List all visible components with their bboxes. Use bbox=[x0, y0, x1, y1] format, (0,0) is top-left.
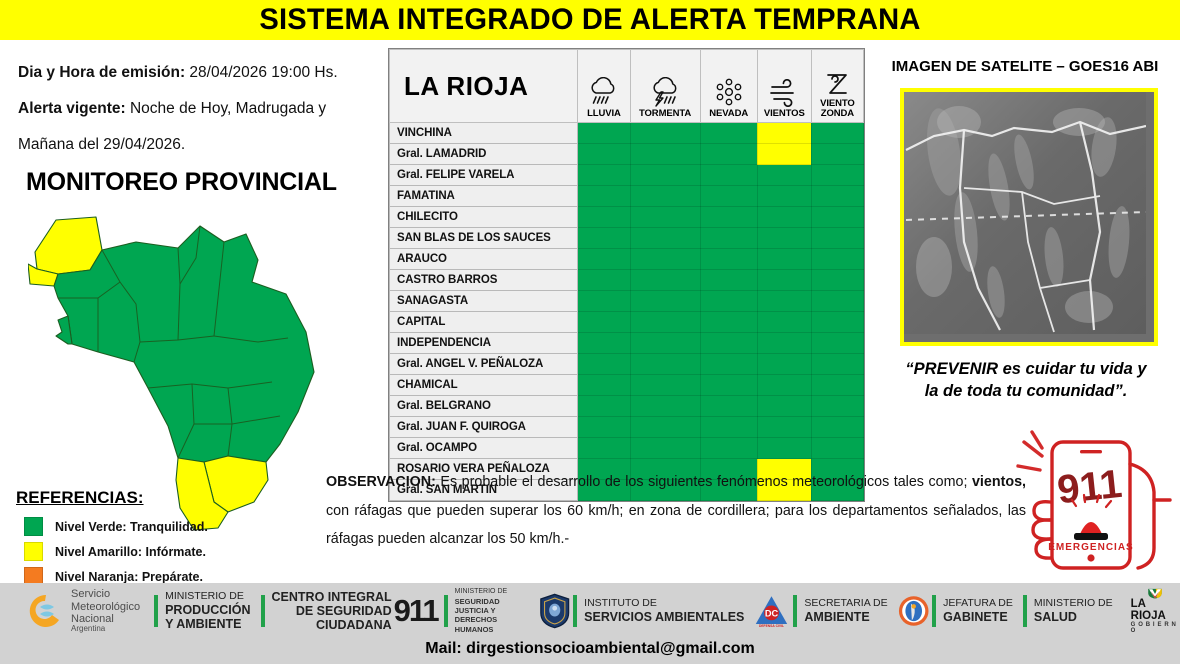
status-cell-nevada bbox=[700, 207, 757, 228]
status-cell-vientos bbox=[757, 396, 811, 417]
status-cell-viento-zonda bbox=[811, 228, 863, 249]
status-cell-nevada bbox=[700, 396, 757, 417]
status-cell-viento-zonda bbox=[811, 333, 863, 354]
status-cell-lluvia bbox=[578, 270, 630, 291]
status-cell-nevada bbox=[700, 354, 757, 375]
department-name: CAPITAL bbox=[390, 312, 578, 333]
status-cell-viento-zonda bbox=[811, 270, 863, 291]
column-header-viento-zonda: VIENTO ZONDA bbox=[811, 50, 863, 123]
status-cell-lluvia bbox=[578, 417, 630, 438]
reference-item: Nivel Amarillo: Infórmate. bbox=[16, 539, 336, 564]
ms-main: SALUD bbox=[1034, 610, 1113, 624]
status-cell-nevada bbox=[700, 291, 757, 312]
msj-t2: SEGURIDAD bbox=[455, 597, 532, 606]
logo-ministerio-salud: MINISTERIO DE SALUD bbox=[1034, 588, 1113, 634]
status-cell-nevada bbox=[700, 165, 757, 186]
department-name: Gral. LAMADRID bbox=[390, 144, 578, 165]
status-cell-vientos bbox=[757, 123, 811, 144]
status-cell-tormenta bbox=[630, 165, 700, 186]
observation-text: OBSERVACION: Es probable el desarrollo d… bbox=[326, 468, 1026, 554]
status-cell-nevada bbox=[700, 123, 757, 144]
wind-icon bbox=[767, 79, 801, 107]
divider bbox=[1023, 595, 1027, 627]
status-cell-viento-zonda bbox=[811, 144, 863, 165]
status-cell-vientos bbox=[757, 354, 811, 375]
status-cell-viento-zonda bbox=[811, 186, 863, 207]
table-row: CHILECITO bbox=[390, 207, 864, 228]
status-cell-tormenta bbox=[630, 312, 700, 333]
status-cell-nevada bbox=[700, 438, 757, 459]
status-cell-lluvia bbox=[578, 375, 630, 396]
smn-l1: Servicio bbox=[71, 588, 140, 600]
isa-top: INSTITUTO DE bbox=[584, 598, 744, 610]
emergency-911-logo: 911 EMERGENCIAS bbox=[1010, 430, 1175, 580]
status-cell-tormenta bbox=[630, 249, 700, 270]
policia-shield-icon bbox=[539, 591, 570, 631]
status-cell-lluvia bbox=[578, 165, 630, 186]
msj-t1: MINISTERIO DE bbox=[455, 588, 532, 597]
department-name: ARAUCO bbox=[390, 249, 578, 270]
smn-l3: Nacional bbox=[71, 613, 140, 625]
defensa-civil-icon: DC DEFENSA CIVIL bbox=[753, 591, 790, 631]
department-name: VINCHINA bbox=[390, 123, 578, 144]
divider bbox=[261, 595, 265, 627]
reference-label: Nivel Amarillo: Infórmate. bbox=[55, 545, 206, 559]
smn-icon bbox=[26, 592, 66, 630]
mpa-main1: PRODUCCIÓN bbox=[165, 603, 250, 617]
contact-mail: Mail: dirgestionsocioambiental@gmail.com bbox=[0, 640, 1180, 658]
status-cell-lluvia bbox=[578, 207, 630, 228]
status-cell-nevada bbox=[700, 228, 757, 249]
table-row: Gral. BELGRANO bbox=[390, 396, 864, 417]
department-name: SAN BLAS DE LOS SAUCES bbox=[390, 228, 578, 249]
status-cell-nevada bbox=[700, 270, 757, 291]
status-cell-tormenta bbox=[630, 396, 700, 417]
swatch-yellow-icon bbox=[24, 542, 43, 561]
status-cell-tormenta bbox=[630, 417, 700, 438]
status-cell-vientos bbox=[757, 417, 811, 438]
cisc-l3: CIUDADANA bbox=[272, 618, 392, 632]
table-row: INDEPENDENCIA bbox=[390, 333, 864, 354]
status-cell-vientos bbox=[757, 228, 811, 249]
emission-line: Dia y Hora de emisión: 28/04/2026 19:00 … bbox=[18, 64, 378, 83]
status-cell-tormenta bbox=[630, 291, 700, 312]
table-row: CAPITAL bbox=[390, 312, 864, 333]
status-cell-viento-zonda bbox=[811, 291, 863, 312]
alert-table-body: VINCHINAGral. LAMADRIDGral. FELIPE VAREL… bbox=[390, 123, 864, 501]
observation-part1: Es probable el desarrollo de los siguien… bbox=[436, 474, 972, 490]
smn-l2: Meteorológico bbox=[71, 601, 140, 613]
satellite-image-content bbox=[904, 92, 1146, 334]
status-cell-vientos bbox=[757, 312, 811, 333]
department-name: Gral. OCAMPO bbox=[390, 438, 578, 459]
department-name: FAMATINA bbox=[390, 186, 578, 207]
table-row: CASTRO BARROS bbox=[390, 270, 864, 291]
divider bbox=[154, 595, 158, 627]
alert-table-container: LA RIOJA LLUVIA bbox=[388, 48, 865, 502]
status-cell-tormenta bbox=[630, 186, 700, 207]
reference-item: Nivel Verde: Tranquilidad. bbox=[16, 514, 336, 539]
department-name: INDEPENDENCIA bbox=[390, 333, 578, 354]
logo-ministerio-seguridad-justicia: MINISTERIO DE SEGURIDAD JUSTICIA Y DEREC… bbox=[455, 588, 532, 634]
reference-label: Nivel Verde: Tranquilidad. bbox=[55, 520, 208, 534]
table-row: Gral. LAMADRID bbox=[390, 144, 864, 165]
mpa-main2: Y AMBIENTE bbox=[165, 617, 250, 631]
column-label: VIENTOS bbox=[758, 109, 811, 122]
divider bbox=[793, 595, 797, 627]
status-cell-vientos bbox=[757, 186, 811, 207]
logo-ministerio-produccion-ambiente: MINISTERIO DE PRODUCCIÓN Y AMBIENTE bbox=[165, 588, 250, 634]
dc-initials: DC bbox=[765, 609, 779, 619]
status-cell-nevada bbox=[700, 312, 757, 333]
table-row: SANAGASTA bbox=[390, 291, 864, 312]
status-cell-tormenta bbox=[630, 354, 700, 375]
quote-line1: “PREVENIR es cuidar tu vida y bbox=[880, 358, 1172, 380]
status-cell-viento-zonda bbox=[811, 165, 863, 186]
table-row: CHAMICAL bbox=[390, 375, 864, 396]
status-cell-viento-zonda bbox=[811, 354, 863, 375]
emergency-label: EMERGENCIAS bbox=[1048, 542, 1133, 553]
cisc-l2: DE SEGURIDAD bbox=[272, 604, 392, 618]
sa-top: SECRETARIA DE bbox=[804, 598, 887, 610]
department-name: Gral. ANGEL V. PEÑALOZA bbox=[390, 354, 578, 375]
status-cell-nevada bbox=[700, 249, 757, 270]
logo-servicio-meteorologico-nacional: Servicio Meteorológico Nacional Argentin… bbox=[26, 588, 140, 634]
status-cell-lluvia bbox=[578, 291, 630, 312]
column-label: LLUVIA bbox=[578, 109, 629, 122]
emission-value: 28/04/2026 19:00 Hs. bbox=[185, 64, 338, 81]
status-cell-vientos bbox=[757, 333, 811, 354]
status-cell-lluvia bbox=[578, 438, 630, 459]
divider bbox=[932, 595, 936, 627]
column-header-vientos: VIENTOS bbox=[757, 50, 811, 123]
logo-secretaria-ambiente: SECRETARIA DE AMBIENTE bbox=[804, 588, 887, 634]
thunderstorm-icon bbox=[646, 77, 684, 107]
table-row: Gral. JUAN F. QUIROGA bbox=[390, 417, 864, 438]
status-cell-viento-zonda bbox=[811, 123, 863, 144]
status-cell-vientos bbox=[757, 438, 811, 459]
alert-table: LA RIOJA LLUVIA bbox=[389, 49, 864, 501]
jg-top: JEFATURA DE bbox=[943, 598, 1013, 610]
status-cell-nevada bbox=[700, 144, 757, 165]
alert-value: Noche de Hoy, Madrugada y bbox=[126, 100, 326, 117]
msj-t4: DERECHOS HUMANOS bbox=[455, 615, 532, 634]
dc-l1: DEFENSA CIVIL bbox=[759, 624, 784, 628]
status-cell-viento-zonda bbox=[811, 375, 863, 396]
satellite-image bbox=[900, 88, 1158, 346]
zonda-icon bbox=[822, 71, 852, 99]
status-cell-lluvia bbox=[578, 333, 630, 354]
status-cell-lluvia bbox=[578, 186, 630, 207]
status-cell-vientos bbox=[757, 249, 811, 270]
status-cell-tormenta bbox=[630, 270, 700, 291]
rain-icon bbox=[587, 77, 621, 107]
ms-top: MINISTERIO DE bbox=[1034, 598, 1113, 610]
status-cell-lluvia bbox=[578, 312, 630, 333]
status-cell-viento-zonda bbox=[811, 249, 863, 270]
status-cell-vientos bbox=[757, 144, 811, 165]
column-label: NEVADA bbox=[701, 109, 757, 122]
cisc-911-number: 911 bbox=[394, 593, 438, 629]
escudo-la-rioja-icon bbox=[898, 594, 929, 628]
column-header-tormenta: TORMENTA bbox=[630, 50, 700, 123]
status-cell-vientos bbox=[757, 270, 811, 291]
logo-instituto-servicios-ambientales: INSTITUTO DE SERVICIOS AMBIENTALES bbox=[584, 588, 744, 634]
observation-part2: con ráfagas que pueden superar los 60 km… bbox=[326, 503, 1026, 548]
emission-label: Dia y Hora de emisión: bbox=[18, 64, 185, 81]
table-row: Gral. OCAMPO bbox=[390, 438, 864, 459]
status-cell-tormenta bbox=[630, 144, 700, 165]
status-cell-viento-zonda bbox=[811, 417, 863, 438]
snow-icon bbox=[713, 77, 745, 107]
satellite-title: IMAGEN DE SATELITE – GOES16 ABI bbox=[880, 58, 1170, 75]
status-cell-viento-zonda bbox=[811, 207, 863, 228]
quote-line2: la de toda tu comunidad”. bbox=[880, 380, 1172, 402]
column-label: VIENTO ZONDA bbox=[812, 99, 863, 122]
department-name: CASTRO BARROS bbox=[390, 270, 578, 291]
department-name: CHILECITO bbox=[390, 207, 578, 228]
msj-t3: JUSTICIA Y bbox=[455, 606, 532, 615]
sa-main: AMBIENTE bbox=[804, 610, 887, 624]
lr-main: LA RIOJA bbox=[1131, 599, 1180, 622]
observation-label: OBSERVACION: bbox=[326, 474, 436, 490]
alert-validity-line: Alerta vigente: Noche de Hoy, Madrugada … bbox=[18, 100, 378, 119]
status-cell-nevada bbox=[700, 186, 757, 207]
table-row: ARAUCO bbox=[390, 249, 864, 270]
divider bbox=[573, 595, 577, 627]
emergency-number: 911 bbox=[1055, 462, 1124, 513]
table-row: FAMATINA bbox=[390, 186, 864, 207]
department-name: SANAGASTA bbox=[390, 291, 578, 312]
status-cell-tormenta bbox=[630, 333, 700, 354]
divider bbox=[444, 595, 448, 627]
column-header-nevada: NEVADA bbox=[700, 50, 757, 123]
logo-centro-integral-seguridad: CENTRO INTEGRAL DE SEGURIDAD CIUDADANA 9… bbox=[272, 588, 438, 634]
mpa-top: MINISTERIO DE bbox=[165, 591, 250, 603]
footer-logos: Servicio Meteorológico Nacional Argentin… bbox=[0, 587, 1180, 635]
status-cell-lluvia bbox=[578, 123, 630, 144]
logo-la-rioja-gobierno: LA RIOJA G O B I E R N O bbox=[1131, 588, 1180, 634]
table-title-cell: LA RIOJA bbox=[390, 50, 578, 123]
swatch-green-icon bbox=[24, 517, 43, 536]
table-header-row: LA RIOJA LLUVIA bbox=[390, 50, 864, 123]
alert-validity-line2: Mañana del 29/04/2026. bbox=[18, 136, 378, 155]
status-cell-vientos bbox=[757, 291, 811, 312]
status-cell-tormenta bbox=[630, 228, 700, 249]
table-row: Gral. FELIPE VARELA bbox=[390, 165, 864, 186]
department-name: Gral. JUAN F. QUIROGA bbox=[390, 417, 578, 438]
column-label: TORMENTA bbox=[631, 109, 700, 122]
status-cell-tormenta bbox=[630, 123, 700, 144]
status-cell-nevada bbox=[700, 333, 757, 354]
top-banner: SISTEMA INTEGRADO DE ALERTA TEMPRANA bbox=[0, 0, 1180, 40]
status-cell-tormenta bbox=[630, 375, 700, 396]
table-row: SAN BLAS DE LOS SAUCES bbox=[390, 228, 864, 249]
status-cell-viento-zonda bbox=[811, 438, 863, 459]
status-cell-lluvia bbox=[578, 354, 630, 375]
status-cell-lluvia bbox=[578, 396, 630, 417]
page-title: SISTEMA INTEGRADO DE ALERTA TEMPRANA bbox=[18, 0, 1163, 40]
reference-label: Nivel Naranja: Prepárate. bbox=[55, 570, 203, 584]
status-cell-vientos bbox=[757, 207, 811, 228]
status-cell-viento-zonda bbox=[811, 396, 863, 417]
table-row: Gral. ANGEL V. PEÑALOZA bbox=[390, 354, 864, 375]
prevention-quote: “PREVENIR es cuidar tu vida y la de toda… bbox=[880, 358, 1172, 403]
status-cell-tormenta bbox=[630, 207, 700, 228]
references-title: REFERENCIAS: bbox=[16, 488, 336, 508]
table-row: VINCHINA bbox=[390, 123, 864, 144]
alert-label: Alerta vigente: bbox=[18, 100, 126, 117]
status-cell-nevada bbox=[700, 375, 757, 396]
department-name: Gral. BELGRANO bbox=[390, 396, 578, 417]
column-header-lluvia: LLUVIA bbox=[578, 50, 630, 123]
status-cell-lluvia bbox=[578, 249, 630, 270]
cisc-l1: CENTRO INTEGRAL bbox=[272, 590, 392, 604]
status-cell-nevada bbox=[700, 417, 757, 438]
jg-main: GABINETE bbox=[943, 610, 1013, 624]
logo-jefatura-gabinete: JEFATURA DE GABINETE bbox=[943, 588, 1013, 634]
status-cell-lluvia bbox=[578, 228, 630, 249]
monitoreo-title: MONITOREO PROVINCIAL bbox=[26, 168, 337, 197]
status-cell-vientos bbox=[757, 165, 811, 186]
status-cell-viento-zonda bbox=[811, 312, 863, 333]
status-cell-vientos bbox=[757, 375, 811, 396]
status-cell-tormenta bbox=[630, 438, 700, 459]
smn-l4: Argentina bbox=[71, 625, 140, 634]
status-cell-lluvia bbox=[578, 144, 630, 165]
department-name: CHAMICAL bbox=[390, 375, 578, 396]
department-name: Gral. FELIPE VARELA bbox=[390, 165, 578, 186]
lr-sub: G O B I E R N O bbox=[1131, 622, 1180, 634]
isa-main: SERVICIOS AMBIENTALES bbox=[584, 610, 744, 624]
smn-label: Servicio Meteorológico Nacional Argentin… bbox=[71, 588, 140, 633]
